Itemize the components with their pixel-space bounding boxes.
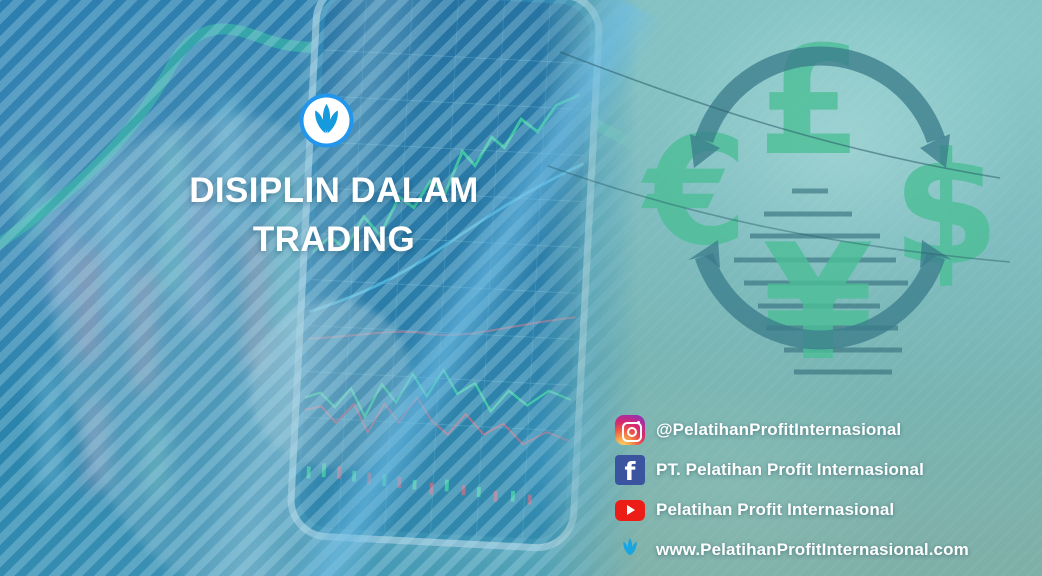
page-title: DISIPLIN DALAM TRADING xyxy=(64,166,604,264)
website-lotus-icon[interactable] xyxy=(614,534,646,566)
contact-item-website[interactable]: www.PelatihanProfitInternasional.com xyxy=(614,530,1034,570)
facebook-icon[interactable]: f xyxy=(614,454,646,486)
promo-banner: £ € $ ¥ xyxy=(0,0,1042,576)
euro-symbol-icon: € xyxy=(641,105,748,279)
contact-item-facebook[interactable]: f PT. Pelatihan Profit Internasional xyxy=(614,450,1034,490)
facebook-page-name: PT. Pelatihan Profit Internasional xyxy=(656,460,924,480)
contact-item-instagram[interactable]: @PelatihanProfitInternasional xyxy=(614,410,1034,450)
website-url: www.PelatihanProfitInternasional.com xyxy=(656,540,969,560)
lotus-logo-icon xyxy=(298,92,355,149)
instagram-handle: @PelatihanProfitInternasional xyxy=(656,420,901,440)
youtube-channel-name: Pelatihan Profit Internasional xyxy=(656,500,894,520)
youtube-icon[interactable] xyxy=(614,494,646,526)
yen-symbol-icon: ¥ xyxy=(762,209,873,378)
title-line-2: TRADING xyxy=(64,215,604,264)
instagram-icon[interactable] xyxy=(614,414,646,446)
forex-currency-graphic: £ € $ ¥ xyxy=(640,28,1000,378)
title-line-1: DISIPLIN DALAM xyxy=(64,166,604,215)
contact-list: @PelatihanProfitInternasional f PT. Pela… xyxy=(614,410,1034,570)
contact-item-youtube[interactable]: Pelatihan Profit Internasional xyxy=(614,490,1034,530)
